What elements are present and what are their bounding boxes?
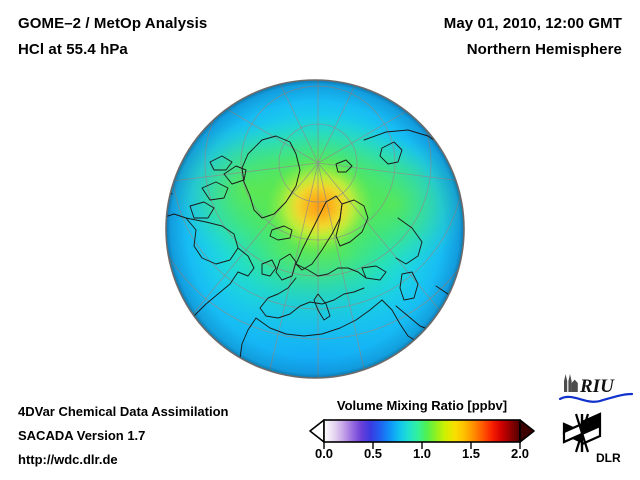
colorbar-under-arrow [310,420,324,442]
dlr-logo: DLR [556,412,636,466]
footer-method: 4DVar Chemical Data Assimilation [18,404,229,419]
page-title: GOME–2 / MetOp Analysis [18,15,207,32]
colorbar-over-arrow [520,420,534,442]
riu-logo: RIU [556,370,636,410]
dlr-wordmark: DLR [596,451,621,465]
riu-wordmark: RIU [579,376,615,397]
colorbar-tick-4: 2.0 [511,446,529,461]
analysis-datetime: May 01, 2010, 12:00 GMT [444,15,622,32]
colorbar-title: Volume Mixing Ratio [ppbv] [306,398,538,413]
globe-map [150,78,480,382]
logos: RIU DLR [556,370,636,466]
globe-limb-shading [166,80,464,378]
cathedral-icon [564,374,578,392]
footer-version: SACADA Version 1.7 [18,428,145,443]
colorbar-tick-labels: 0.0 0.5 1.0 1.5 2.0 [306,446,538,466]
dlr-mark-icon [564,414,600,452]
colorbar-tick-0: 0.0 [315,446,333,461]
colorbar-tick-3: 1.5 [462,446,480,461]
page-subtitle: HCl at 55.4 hPa [18,41,128,58]
colorbar-tick-1: 0.5 [364,446,382,461]
colorbar: Volume Mixing Ratio [ppbv] [306,398,538,474]
colorbar-gradient [324,420,520,442]
colorbar-tick-2: 1.0 [413,446,431,461]
orthographic-projection-svg [150,78,480,382]
analysis-region: Northern Hemisphere [467,41,622,58]
footer-url[interactable]: http://wdc.dlr.de [18,452,118,467]
